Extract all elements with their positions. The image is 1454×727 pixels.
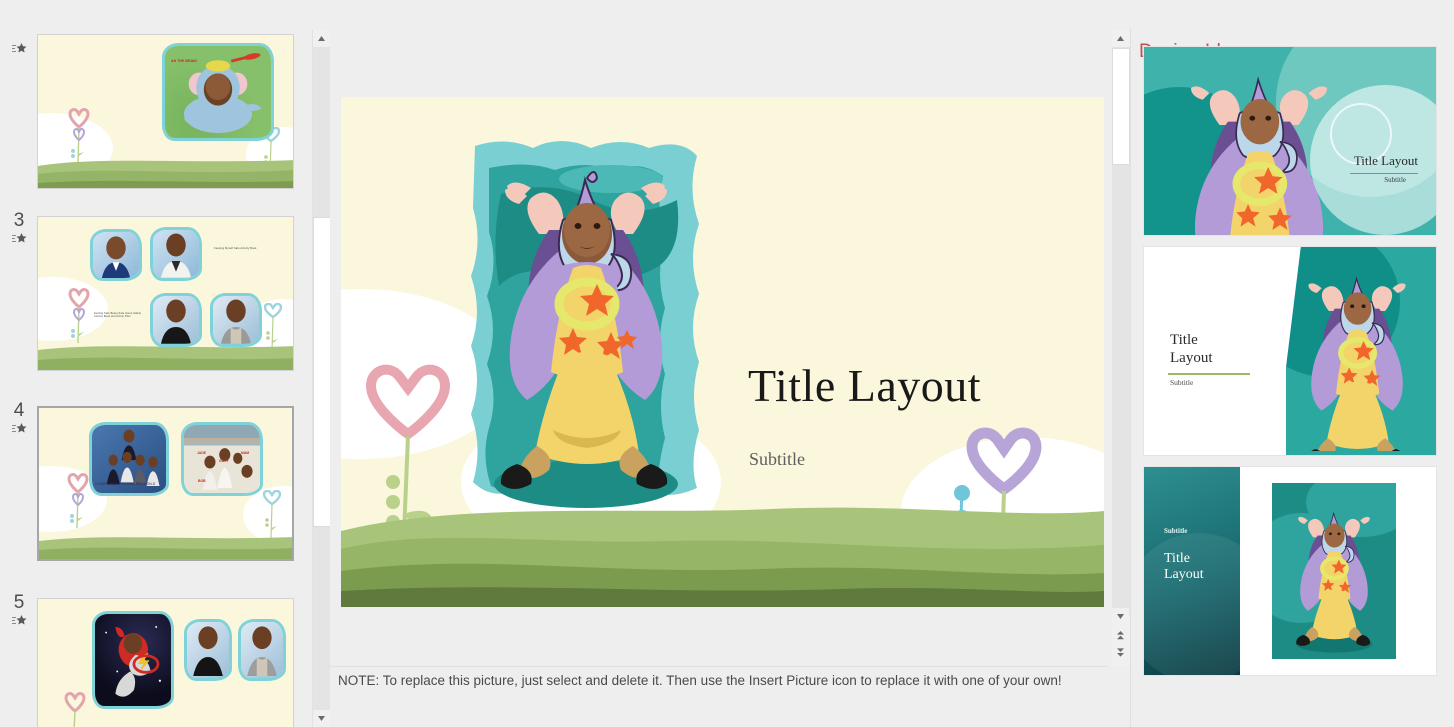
current-slide[interactable]: Title Layout Subtitle bbox=[341, 97, 1104, 607]
top-edge-strip bbox=[0, 0, 1454, 28]
scroll-up-button[interactable] bbox=[1112, 30, 1129, 47]
slide-number: 4 bbox=[14, 400, 25, 421]
design-option-subtitle: Subtitle bbox=[1170, 378, 1193, 387]
slide-picture[interactable] bbox=[461, 134, 711, 564]
animation-star-icon bbox=[11, 422, 28, 437]
double-triangle-down-icon bbox=[1115, 647, 1126, 658]
wizard-illustration bbox=[1286, 251, 1432, 451]
animation-star-icon bbox=[11, 42, 28, 57]
hill-decoration bbox=[341, 497, 1104, 607]
design-option-subtitle: Subtitle bbox=[1384, 176, 1406, 184]
scroll-up-button[interactable] bbox=[313, 30, 330, 47]
slide-pane: Title Layout Subtitle bbox=[330, 28, 1108, 665]
slide-number: 3 bbox=[14, 210, 25, 231]
slide-thumbnail[interactable]: Keeping Myself Safe Activity Book Feelin… bbox=[37, 216, 294, 371]
slide-picture bbox=[150, 227, 202, 281]
triangle-down-icon bbox=[317, 715, 326, 722]
slide-picture bbox=[238, 619, 286, 681]
design-option-title: Title Layout bbox=[1164, 551, 1226, 583]
photo-label: GARY bbox=[219, 459, 229, 463]
scroll-down-button[interactable] bbox=[1112, 608, 1129, 625]
animation-star-icon bbox=[11, 232, 28, 247]
triangle-up-icon bbox=[317, 35, 326, 42]
slide-number: 5 bbox=[14, 592, 25, 613]
scrollbar-thumb[interactable] bbox=[1112, 48, 1130, 165]
design-option[interactable]: Title Layout Subtitle bbox=[1144, 247, 1436, 455]
thumbnail-scrollbar[interactable] bbox=[312, 30, 330, 727]
slide-picture bbox=[184, 619, 232, 681]
design-option[interactable]: Subtitle Title Layout bbox=[1144, 467, 1436, 675]
photo-label: JADE bbox=[197, 451, 206, 455]
photo-label: BOB bbox=[198, 479, 206, 483]
slide-text-block: Keeping Myself Safe Activity Book bbox=[214, 247, 274, 250]
hill-decoration bbox=[38, 154, 293, 188]
slide-picture bbox=[1272, 483, 1396, 659]
divider bbox=[1350, 173, 1418, 174]
picture-caption: D-GARY-ARIEL-GRANDMA-BRANDON-D bbox=[95, 482, 155, 486]
slide-picture bbox=[90, 229, 142, 281]
slide-scrollbar[interactable] bbox=[1112, 30, 1130, 666]
notes-pane[interactable]: NOTE: To replace this picture, just sele… bbox=[330, 666, 1108, 727]
slide-picture bbox=[150, 293, 202, 347]
wizard-illustration bbox=[461, 134, 711, 564]
slide-thumbnail[interactable] bbox=[37, 598, 294, 727]
slide-thumbnail-pane[interactable]: AN THE BRAIN 3 bbox=[0, 28, 312, 727]
page-title[interactable]: Title Layout bbox=[748, 359, 981, 412]
animation-star-icon bbox=[11, 614, 28, 629]
scrollbar-thumb[interactable] bbox=[313, 217, 331, 527]
photo-label: MAM bbox=[241, 451, 249, 455]
divider bbox=[1168, 373, 1250, 375]
flower-decoration-icon bbox=[65, 472, 91, 534]
design-option-title: Title Layout bbox=[1170, 331, 1240, 367]
notes-text[interactable]: NOTE: To replace this picture, just sele… bbox=[338, 673, 1062, 688]
slide-subtitle[interactable]: Subtitle bbox=[749, 449, 805, 470]
slide-text-block: Feeling Safe Being Safe Home Safety Acti… bbox=[94, 312, 142, 319]
flower-decoration-icon bbox=[62, 691, 88, 727]
triangle-down-icon bbox=[1116, 613, 1125, 620]
picture-caption: AN THE BRAIN bbox=[171, 59, 197, 63]
slide-thumbnail[interactable]: AN THE BRAIN bbox=[37, 34, 294, 189]
slide-picture: JADE GARY MAM BOB bbox=[181, 422, 263, 496]
slide-picture: AN THE BRAIN bbox=[162, 43, 274, 141]
triangle-up-icon bbox=[1116, 35, 1125, 42]
hill-decoration bbox=[39, 531, 292, 559]
design-option-subtitle: Subtitle bbox=[1164, 527, 1187, 535]
next-slide-button[interactable] bbox=[1112, 644, 1129, 661]
design-ideas-panel: Design Ideas bbox=[1130, 28, 1454, 727]
scroll-down-button[interactable] bbox=[313, 710, 330, 727]
powerpoint-window: AN THE BRAIN 3 bbox=[0, 0, 1454, 727]
wizard-illustration bbox=[1278, 493, 1390, 657]
design-option-title: Title Layout bbox=[1354, 153, 1418, 169]
previous-slide-button[interactable] bbox=[1112, 627, 1129, 644]
design-option[interactable]: Title Layout Subtitle bbox=[1144, 47, 1436, 235]
slide-thumbnail-selected[interactable]: D-GARY-ARIEL-GRANDMA-BRANDON-D JADE bbox=[37, 406, 294, 561]
slide-picture bbox=[210, 293, 262, 347]
slide-picture bbox=[92, 611, 174, 709]
double-triangle-up-icon bbox=[1115, 630, 1126, 641]
slide-picture: D-GARY-ARIEL-GRANDMA-BRANDON-D bbox=[89, 422, 169, 496]
